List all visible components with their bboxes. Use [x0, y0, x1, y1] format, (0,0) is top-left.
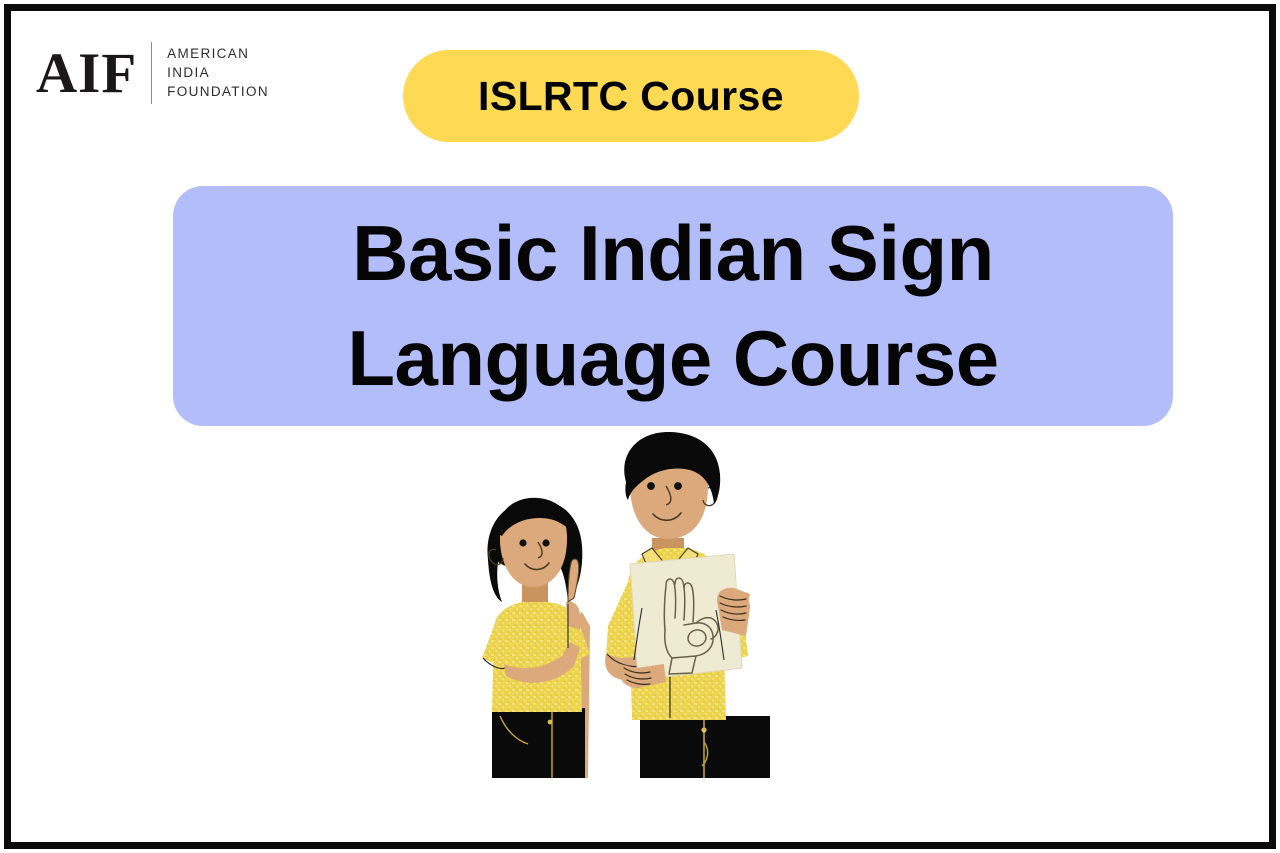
logo-word-line-1: AMERICAN — [167, 46, 269, 62]
sign-language-illustration — [470, 430, 850, 790]
logo-word-line-3: FOUNDATION — [167, 84, 269, 100]
course-title-line-1: Basic Indian Sign — [352, 201, 994, 306]
course-badge-label: ISLRTC Course — [478, 73, 784, 120]
illustration-figure-girl — [482, 498, 590, 778]
course-title-banner: Basic Indian Sign Language Course — [173, 186, 1173, 426]
poster-canvas: AIF AMERICAN INDIA FOUNDATION ISLRTC Cou… — [0, 0, 1280, 853]
aif-logo: AIF AMERICAN INDIA FOUNDATION — [36, 38, 269, 108]
course-badge: ISLRTC Course — [403, 50, 859, 142]
aif-monogram: AIF — [36, 45, 151, 102]
logo-wordmark: AMERICAN INDIA FOUNDATION — [167, 46, 269, 100]
course-title-line-2: Language Course — [347, 306, 998, 411]
logo-word-line-2: INDIA — [167, 65, 269, 81]
illustration-figure-man — [605, 432, 770, 778]
logo-divider — [151, 42, 152, 104]
